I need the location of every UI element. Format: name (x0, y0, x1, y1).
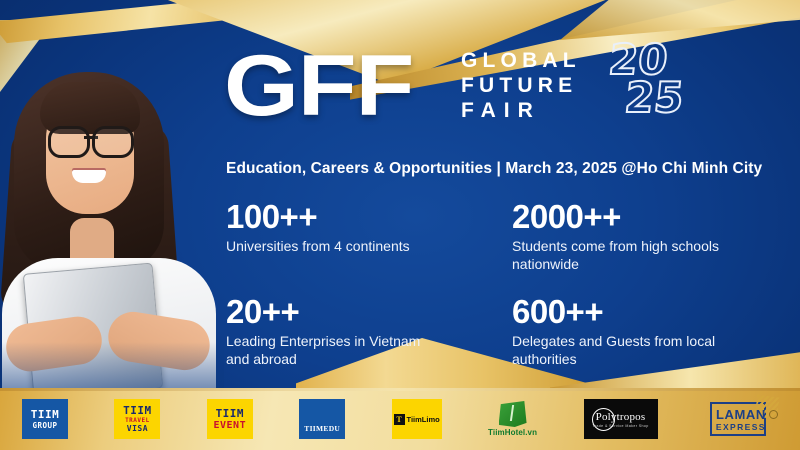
stat-label: Students come from high schools nationwi… (512, 238, 727, 273)
event-name-line-3: FAIR (461, 100, 581, 122)
stat-number: 20++ (226, 295, 498, 328)
stat-item: 600++ Delegates and Guests from local au… (512, 295, 784, 368)
photo-fade (0, 342, 224, 392)
polytropos-ring-icon (592, 408, 615, 431)
event-year: 20 25 (603, 40, 699, 132)
tiimhotel-leaf-icon (499, 401, 527, 427)
sponsor-logo-laman-express[interactable]: LAMAN EXPRESS (704, 398, 778, 440)
sponsor-footer-bar: TIIM GROUP TIIM TRAVEL VISA TIIM EVENT T… (0, 388, 800, 450)
tiim-travel-line-3: VISA (127, 425, 148, 433)
stat-number: 600++ (512, 295, 784, 328)
event-name-line-2: FUTURE (461, 75, 581, 97)
sponsor-logo-tiim-group[interactable]: TIIM GROUP (22, 399, 68, 439)
banner-content: GFF GLOBAL FUTURE FAIR 20 25 Education, … (224, 0, 784, 388)
laman-registered-icon (769, 410, 778, 419)
stat-item: 2000++ Students come from high schools n… (512, 200, 784, 273)
tiim-travel-line-1: TIIM (123, 405, 152, 416)
sponsor-logo-tiim-travel-visa[interactable]: TIIM TRAVEL VISA (114, 399, 160, 439)
laman-line-1: LAMAN (716, 407, 766, 422)
tiim-event-line-1: TIIM (216, 408, 245, 419)
tiimlimo-badge: T (394, 414, 405, 425)
event-name-line-1: GLOBAL (461, 50, 581, 72)
stat-label: Delegates and Guests from local authorit… (512, 333, 727, 368)
student-photo (0, 20, 224, 392)
stat-item: 20++ Leading Enterprises in Vietnam and … (226, 295, 498, 368)
event-subtitle: Education, Careers & Opportunities | Mar… (226, 160, 762, 178)
event-logo-lockup: GFF GLOBAL FUTURE FAIR 20 25 (224, 40, 699, 132)
tiim-group-line-2: GROUP (32, 422, 57, 430)
smile (72, 170, 106, 183)
event-acronym: GFF (224, 50, 413, 122)
tiimedu-text: TIIMEDU (304, 424, 340, 433)
sponsor-logo-tiimhotel[interactable]: TiimHotel.vn (488, 401, 537, 437)
laman-line-2: EXPRESS (716, 422, 766, 432)
sponsor-logo-polytropos[interactable]: Polytropos Trade & Service Maker Shop (584, 399, 658, 439)
statistics-grid: 100++ Universities from 4 continents 200… (226, 200, 784, 368)
event-year-bottom: 25 (623, 80, 685, 115)
event-banner: GFF GLOBAL FUTURE FAIR 20 25 Education, … (0, 0, 800, 450)
tiim-event-line-2: EVENT (214, 421, 247, 431)
event-year-top: 20 (607, 42, 669, 77)
tiim-group-line-1: TIIM (31, 409, 60, 420)
stat-number: 2000++ (512, 200, 784, 233)
tiimlimo-text: TiimLimo (407, 415, 440, 424)
sponsor-logo-tiimedu[interactable]: TIIMEDU (299, 399, 345, 439)
stat-number: 100++ (226, 200, 498, 233)
event-name-stack: GLOBAL FUTURE FAIR (461, 50, 581, 123)
tiimhotel-text: TiimHotel.vn (488, 428, 537, 437)
stat-item: 100++ Universities from 4 continents (226, 200, 498, 273)
stat-label: Leading Enterprises in Vietnam and abroa… (226, 333, 441, 368)
stat-label: Universities from 4 continents (226, 238, 441, 256)
glasses-icon (48, 126, 134, 152)
sponsor-logo-tiimlimo[interactable]: T TiimLimo (392, 399, 442, 439)
sponsor-logo-tiim-event[interactable]: TIIM EVENT (207, 399, 253, 439)
